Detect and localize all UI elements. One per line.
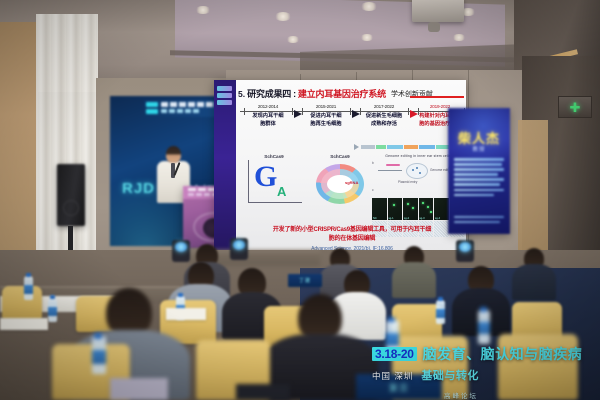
bio-line (454, 189, 504, 192)
projector-lens (428, 22, 440, 32)
audience-person (512, 264, 556, 300)
bottle-label (436, 309, 445, 318)
speaker-role: 教授 (448, 145, 510, 153)
schematic-line (378, 170, 402, 171)
bio-line (454, 178, 504, 181)
stage-moving-light (456, 240, 474, 262)
microscopy-cell: sg-2 (403, 198, 418, 220)
overlay-row-1: 3.18-20 脑发育、脑认知与脑疾病 (372, 344, 596, 364)
presenter-head (166, 146, 181, 163)
schematic-lower-label: Plasmid entry (398, 180, 417, 184)
bio-line (454, 168, 504, 171)
overlay-row-3: 高峰论坛 (372, 385, 596, 400)
timeline-stage: 2012-2014 发现内耳干细 胞群体 (242, 104, 294, 128)
bottle-label (24, 285, 33, 294)
audience-chair (2, 286, 42, 320)
timeline-stage: 2017-2022 促进新生毛细胞 成熟和存活 (358, 104, 410, 128)
timeline-desc: 发现内耳干细 胞群体 (242, 113, 294, 128)
schematic-step-c: c (372, 188, 374, 192)
slide-title-number: 5. (238, 89, 245, 99)
banner-tag (146, 109, 158, 114)
speaker-bio-text (454, 158, 504, 199)
water-bottle (436, 300, 445, 324)
slide-title-red: 建立内耳基因治疗系统 (298, 87, 386, 100)
downlight (360, 2, 378, 11)
water-bottle-front (478, 310, 490, 344)
sequence-logo-letter-G: G (254, 162, 277, 192)
bottle-label (478, 322, 490, 334)
schematic-step-b: b (372, 161, 374, 165)
sequence-logo-letter-A: A (277, 184, 286, 199)
gene-segment (361, 145, 375, 149)
schematic-nucleus-dot (416, 167, 418, 169)
banner-text-line (161, 109, 201, 113)
speaker-cone (63, 200, 79, 216)
caption-line-1: 开发了新的小型CRISPR/Cas9基因编辑工具，可用于内耳干细 (240, 226, 464, 235)
bottle-cap (480, 307, 487, 312)
bio-line (454, 183, 500, 186)
paper-handout (0, 318, 48, 330)
schematic-construct (386, 164, 400, 166)
gene-segment (404, 145, 418, 149)
gene-construct-diagram (354, 144, 462, 150)
event-date-badge: 3.18-20 (372, 347, 417, 361)
downlight (452, 34, 466, 41)
bottle-cap (388, 317, 395, 322)
bio-line (454, 194, 494, 197)
downlight (286, 36, 300, 43)
downlight (274, 12, 292, 21)
bio-line (454, 163, 502, 166)
pa-speaker-left (57, 164, 85, 226)
sidebar-chip (217, 100, 232, 105)
bottle-label (92, 350, 106, 364)
event-title-overlay: 3.18-20 脑发育、脑认知与脑疾病 中国 深圳 基础与转化 高峰论坛 (372, 344, 596, 400)
logo-axis (248, 160, 249, 202)
microscopy-cell: sg-3 (419, 198, 434, 220)
speaker-profile-banner: 柴人杰 教授 (448, 108, 510, 234)
event-main-title: 脑发育、脑认知与脑疾病 (423, 344, 583, 364)
timeline-date: 2017-2022 (358, 104, 410, 109)
audience-person (392, 262, 436, 298)
water-bottle-front (92, 336, 106, 374)
microscopy-cell: NC (372, 198, 387, 220)
timeline-date: 2012-2014 (242, 104, 294, 109)
exit-sign: ✚ (558, 96, 592, 118)
bottle-label (48, 307, 57, 316)
fluorescent-dot (422, 202, 424, 204)
name-card-text: 丁建 (299, 277, 311, 284)
microscopy-caption: sg-2 (404, 217, 409, 220)
slide-caption: 开发了新的小型CRISPR/Cas9基因编辑工具，可用于内耳干细 胞的在体基因编… (240, 226, 464, 252)
gene-segment (387, 145, 403, 149)
microscopy-cell: sg-1 (388, 198, 403, 220)
bio-line (454, 173, 498, 176)
schematic-nucleus-dot (412, 169, 414, 171)
gene-segment (419, 145, 435, 149)
bottle-cap (94, 333, 102, 339)
bottle-cap (178, 293, 183, 297)
event-forum-label: 高峰论坛 (444, 393, 478, 400)
panel-label-schcas9: SchCas9 (246, 154, 302, 159)
microscopy-caption: NC (373, 217, 377, 220)
paper-handout (166, 308, 206, 320)
backdrop-top-banner (144, 100, 222, 117)
light-lens (175, 242, 187, 252)
conference-photo-scene: ✚ RJD 瑞金论坛 (0, 0, 600, 400)
slide-timeline: 2012-2014 发现内耳干细 胞群体 2015-2021 促进内耳干细 胞再… (240, 104, 466, 144)
downlight (360, 34, 374, 41)
panel-label-plasmid: SchCas9 (314, 154, 366, 159)
fluorescent-dot (407, 203, 409, 205)
overlay-row-2: 中国 深圳 基础与转化 (372, 367, 596, 383)
slide-left-sidebar (214, 80, 236, 253)
caption-line-2: 胞的在体基因编辑 (240, 235, 464, 244)
banner-tag (146, 102, 158, 107)
fluorescent-dot (427, 206, 429, 208)
event-subtitle: 基础与转化 (421, 367, 479, 383)
gene-arrow-icon (354, 144, 359, 150)
slide-title-colon: : (293, 89, 296, 99)
fluorescent-dot (393, 204, 395, 206)
footer-line (454, 221, 500, 224)
schematic-cell (406, 163, 428, 179)
timeline-desc: 促进内耳干细 胞再生毛细胞 (300, 113, 352, 128)
timeline-stage: 2015-2021 促进内耳干细 胞再生毛细胞 (300, 104, 352, 128)
stage-moving-light (172, 240, 190, 262)
microscopy-cell: sg-4 (434, 198, 449, 220)
footer-line (454, 216, 504, 219)
backdrop-logo: RJD (122, 180, 155, 197)
slide-title-black: 研究成果四 (247, 87, 291, 100)
light-lens (233, 240, 245, 250)
device-front (236, 384, 290, 400)
name-card: 丁建 (288, 274, 322, 287)
logo-baseline (248, 202, 302, 203)
microscopy-caption: sg-4 (435, 217, 440, 220)
water-bottle (24, 276, 33, 300)
downlight (195, 6, 211, 14)
ceiling-projector (412, 0, 464, 22)
fluorescent-dot (412, 207, 414, 209)
schematic-nucleus-dot (419, 172, 421, 174)
event-location: 中国 深圳 (372, 370, 413, 382)
stage-moving-light (230, 238, 248, 260)
microscopy-caption: sg-3 (420, 217, 425, 220)
fluorescent-dot (430, 211, 432, 213)
gene-segment (376, 145, 386, 149)
paper-handout-front (110, 378, 168, 400)
bottle-cap (438, 297, 443, 301)
exit-cross-icon: ✚ (570, 101, 581, 114)
slide-title-underline (410, 96, 464, 98)
sidebar-chip (217, 93, 232, 98)
bottle-cap (26, 273, 31, 277)
banner-text-line (161, 102, 217, 107)
microscopy-caption: sg-1 (389, 217, 394, 220)
sequence-logo-panel: SchCas9 G A (246, 154, 302, 210)
bottle-cap (50, 295, 55, 299)
slide-title: 5. 研究成果四 : 建立内耳基因治疗系统 学术创新贡献 (238, 86, 464, 101)
plasmid-label: sgRNA (345, 180, 358, 185)
light-lens (459, 242, 471, 252)
timeline-desc: 促进新生毛细胞 成熟和存活 (358, 113, 410, 128)
timeline-date: 2015-2021 (300, 104, 352, 109)
speaker-footer-text (454, 216, 504, 226)
bio-line (454, 158, 504, 161)
sidebar-chip (217, 86, 232, 91)
water-bottle (48, 298, 57, 322)
plasmid-map: SchCas9 sgRNA (314, 154, 366, 206)
projection-screen: 5. 研究成果四 : 建立内耳基因治疗系统 学术创新贡献 2012-2014 发… (214, 80, 466, 253)
